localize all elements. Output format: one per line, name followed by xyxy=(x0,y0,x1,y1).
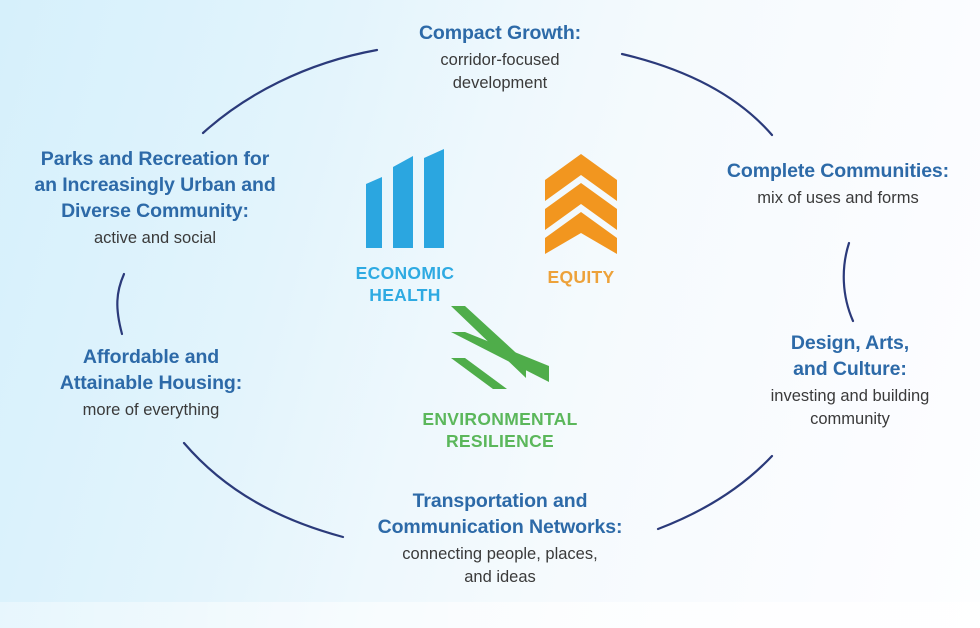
title-line: Transportation and xyxy=(330,488,670,514)
node-parks-and-recreation-subtitle: active and social xyxy=(8,227,302,250)
pillar-environmental-resilience-label: ENVIRONMENTAL RESILIENCE xyxy=(400,408,600,452)
title-line: Parks and Recreation for xyxy=(8,146,302,172)
arc-complete-to-design xyxy=(844,243,853,321)
title-line: Diverse Community: xyxy=(8,198,302,224)
title-line: an Increasingly Urban and xyxy=(8,172,302,198)
node-parks-and-recreation[interactable]: Parks and Recreation for an Increasingly… xyxy=(8,146,302,250)
arc-transportation-to-housing xyxy=(184,443,343,537)
node-affordable-attainable-housing-subtitle: more of everything xyxy=(22,399,280,422)
node-complete-communities-subtitle: mix of uses and forms xyxy=(700,187,976,210)
node-design-arts-culture-title: Design, Arts, and Culture: xyxy=(724,330,976,382)
node-affordable-attainable-housing-title: Affordable and Attainable Housing: xyxy=(22,344,280,396)
node-compact-growth-subtitle: corridor-focused development xyxy=(340,49,660,95)
node-transportation-communication[interactable]: Transportation and Communication Network… xyxy=(330,488,670,589)
title-line: Affordable and xyxy=(22,344,280,370)
subtitle-line: investing and building xyxy=(724,385,976,408)
pillar-label-line: EQUITY xyxy=(510,266,652,288)
node-compact-growth-title: Compact Growth: xyxy=(340,20,660,46)
subtitle-line: active and social xyxy=(8,227,302,250)
node-affordable-attainable-housing[interactable]: Affordable and Attainable Housing: more … xyxy=(22,344,280,422)
node-transportation-communication-title: Transportation and Communication Network… xyxy=(330,488,670,540)
title-line: Design, Arts, xyxy=(724,330,976,356)
subtitle-line: community xyxy=(724,408,976,431)
node-design-arts-culture-subtitle: investing and building community xyxy=(724,385,976,431)
pillar-label-line: ECONOMIC xyxy=(330,262,480,284)
subtitle-line: more of everything xyxy=(22,399,280,422)
node-transportation-communication-subtitle: connecting people, places, and ideas xyxy=(330,543,670,589)
title-line: Communication Networks: xyxy=(330,514,670,540)
title-line: and Culture: xyxy=(724,356,976,382)
pillar-label-line: RESILIENCE xyxy=(400,430,600,452)
icon-container xyxy=(400,302,600,394)
ascending-bars-icon xyxy=(362,148,448,252)
node-parks-and-recreation-title: Parks and Recreation for an Increasingly… xyxy=(8,146,302,224)
title-line: Attainable Housing: xyxy=(22,370,280,396)
stacked-chevrons-icon xyxy=(543,152,619,256)
subtitle-line: corridor-focused xyxy=(340,49,660,72)
arc-design-to-transportation xyxy=(658,456,772,529)
subtitle-line: development xyxy=(340,72,660,95)
node-complete-communities[interactable]: Complete Communities: mix of uses and fo… xyxy=(700,158,976,210)
pillar-label-line: ENVIRONMENTAL xyxy=(400,408,600,430)
pillar-economic-health-label: ECONOMIC HEALTH xyxy=(330,262,480,306)
pillar-equity-label: EQUITY xyxy=(510,266,652,288)
subtitle-line: connecting people, places, xyxy=(330,543,670,566)
subtitle-line: and ideas xyxy=(330,566,670,589)
arc-housing-to-parks xyxy=(117,274,124,334)
node-complete-communities-title: Complete Communities: xyxy=(700,158,976,184)
subtitle-line: mix of uses and forms xyxy=(700,187,976,210)
pillar-economic-health[interactable]: ECONOMIC HEALTH xyxy=(330,146,480,306)
icon-container xyxy=(510,150,652,256)
node-compact-growth[interactable]: Compact Growth: corridor-focused develop… xyxy=(340,20,660,95)
pillar-equity[interactable]: EQUITY xyxy=(510,150,652,288)
node-design-arts-culture[interactable]: Design, Arts, and Culture: investing and… xyxy=(724,330,976,431)
pillar-environmental-resilience[interactable]: ENVIRONMENTAL RESILIENCE xyxy=(400,302,600,452)
infographic-canvas: Compact Growth: corridor-focused develop… xyxy=(0,0,980,628)
icon-container xyxy=(330,146,480,252)
diagonal-stripes-icon xyxy=(448,304,552,394)
